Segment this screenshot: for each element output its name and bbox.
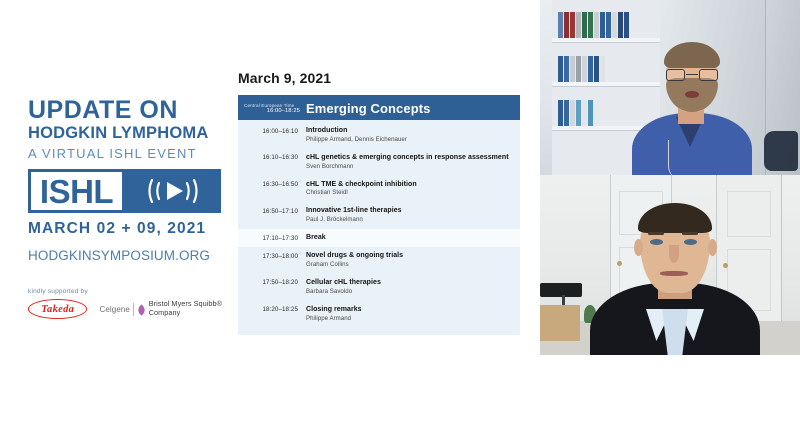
video-frame-content [540, 175, 800, 355]
schedule-row: 18:20–18:25 Closing remarks Philippe Arm… [238, 301, 520, 328]
row-speaker: Philippe Armand, Dennis Eichenauer [306, 136, 514, 145]
row-speaker: Graham Collins [306, 261, 514, 270]
eyeglasses [665, 69, 719, 81]
ishl-badge: ISHL [28, 169, 221, 213]
logo-website: HODGKINSYMPOSIUM.ORG [28, 248, 223, 263]
celgene-bms-logo: Celgene Bristol Myers Squibb® Company [99, 300, 228, 317]
schedule-row-break: 17:10–17:30 Break [238, 229, 520, 247]
sponsor-logos: Takeda Celgene Bristol Myers Squibb® Com… [28, 299, 228, 319]
row-info: Closing remarks Philippe Armand [306, 305, 514, 324]
schedule-row: 16:30–16:50 cHL TME & checkpoint inhibit… [238, 176, 520, 203]
agenda-date: March 9, 2021 [238, 70, 520, 86]
schedule-row: 17:30–18:00 Novel drugs & ongoing trials… [238, 247, 520, 274]
schedule-header: Central European Time 16:00–18:25 Emergi… [238, 95, 520, 120]
celgene-wordmark: Celgene [99, 305, 130, 314]
row-time: 16:10–16:30 [244, 153, 306, 163]
participant-video-bottom[interactable] [540, 175, 800, 355]
bms-wordmark: Bristol Myers Squibb® Company [149, 300, 228, 317]
sponsors-block: kindly supported by Takeda Celgene Brist… [28, 288, 228, 319]
row-time: 18:20–18:25 [244, 305, 306, 315]
agenda-block: March 9, 2021 Central European Time 16:0… [238, 70, 520, 335]
video-conference-screen: UPDATE ON HODGKIN LYMPHOMA A VIRTUAL ISH… [0, 0, 800, 425]
row-title: Break [306, 233, 514, 242]
logo-hodgkin-lymphoma: HODGKIN LYMPHOMA [28, 123, 223, 144]
logo-virtual-event: A VIRTUAL ISHL EVENT [28, 144, 223, 164]
row-info: Novel drugs & ongoing trials Graham Coll… [306, 251, 514, 270]
row-speaker: Christian Steidl [306, 189, 514, 198]
row-speaker: Paul J. Bröckelmann [306, 216, 514, 225]
row-info: Break [306, 233, 514, 242]
play-with-soundwaves-icon [146, 176, 200, 206]
row-title: Cellular cHL therapies [306, 278, 514, 287]
takeda-wordmark: Takeda [41, 304, 74, 315]
row-title: Closing remarks [306, 305, 514, 314]
video-frame-content [540, 0, 800, 175]
row-title: Innovative 1st-line therapies [306, 206, 514, 215]
session-title: Emerging Concepts [306, 102, 431, 115]
participant-video-column [540, 0, 800, 425]
row-info: cHL genetics & emerging concepts in resp… [306, 153, 514, 172]
schedule-row: 16:00–16:10 Introduction Philippe Armand… [238, 122, 520, 149]
row-time: 17:30–18:00 [244, 251, 306, 261]
schedule-rows: 16:00–16:10 Introduction Philippe Armand… [238, 120, 520, 335]
session-time-range: 16:00–18:25 [244, 108, 300, 115]
ishl-acronym: ISHL [40, 175, 113, 208]
logo-update-on: UPDATE ON [28, 98, 223, 123]
row-info: Innovative 1st-line therapies Paul J. Br… [306, 206, 514, 225]
row-title: Introduction [306, 126, 514, 135]
person-figure [632, 36, 752, 175]
row-speaker: Philippe Armand [306, 315, 514, 324]
row-info: Introduction Philippe Armand, Dennis Eic… [306, 126, 514, 145]
takeda-logo: Takeda [28, 299, 87, 319]
row-time: 16:50–17:10 [244, 206, 306, 216]
sponsors-label: kindly supported by [28, 288, 228, 295]
logo-divider [133, 303, 134, 316]
row-info: Cellular cHL therapies Barbara Savoldo [306, 278, 514, 297]
ishl-play-box [125, 169, 221, 213]
schedule-row: 17:50–18:20 Cellular cHL therapies Barba… [238, 274, 520, 301]
row-speaker: Sven Borchmann [306, 163, 514, 172]
row-time: 16:30–16:50 [244, 180, 306, 190]
bms-symbol-icon [137, 303, 146, 315]
schedule-header-time: Central European Time 16:00–18:25 [244, 103, 306, 115]
row-time: 17:50–18:20 [244, 278, 306, 288]
row-info: cHL TME & checkpoint inhibition Christia… [306, 180, 514, 199]
ishl-acronym-box: ISHL [28, 169, 125, 213]
row-title: Novel drugs & ongoing trials [306, 251, 514, 260]
row-speaker: Barbara Savoldo [306, 288, 514, 297]
schedule-row: 16:10–16:30 cHL genetics & emerging conc… [238, 149, 520, 176]
row-time: 17:10–17:30 [244, 233, 306, 243]
row-title: cHL genetics & emerging concepts in resp… [306, 153, 514, 162]
shared-slide: UPDATE ON HODGKIN LYMPHOMA A VIRTUAL ISH… [0, 0, 540, 425]
person-figure [590, 195, 760, 355]
event-logo: UPDATE ON HODGKIN LYMPHOMA A VIRTUAL ISH… [28, 98, 223, 263]
participant-video-top[interactable] [540, 0, 800, 175]
logo-dates: MARCH 02 + 09, 2021 [28, 220, 223, 238]
schedule-row: 16:50–17:10 Innovative 1st-line therapie… [238, 202, 520, 229]
row-time: 16:00–16:10 [244, 126, 306, 136]
row-title: cHL TME & checkpoint inhibition [306, 180, 514, 189]
